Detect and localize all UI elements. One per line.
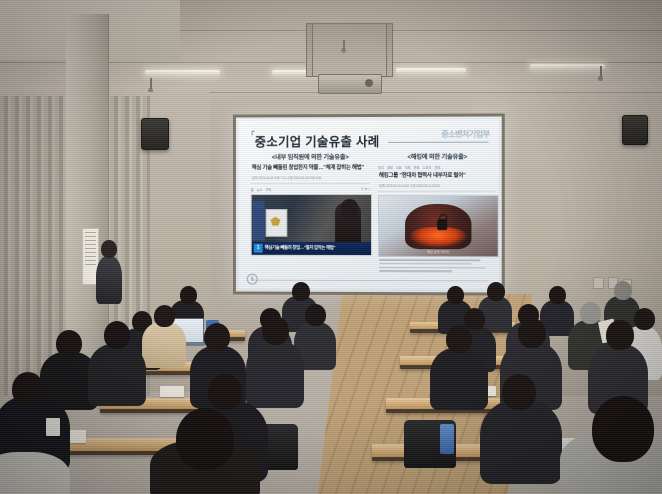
left-article-nav: 홈뉴스구독 ☰ ⚙ ⤓ <box>251 187 370 192</box>
projector-mount-arm <box>386 23 393 77</box>
presenter-body <box>96 256 122 304</box>
attendee-head <box>292 282 310 301</box>
attendee-head <box>56 330 82 357</box>
attendee-head-foreground <box>176 408 234 470</box>
left-news-thumbnail: 1 핵심기술 빼돌려 창업…"철저 입막는 해법" <box>251 194 372 256</box>
attendee-head <box>12 372 44 406</box>
attendee-head <box>305 304 326 326</box>
attendee-head <box>446 325 472 353</box>
attendee-head <box>634 308 655 330</box>
sprinkler-pipe <box>600 66 602 77</box>
reporter-hair <box>341 199 358 219</box>
wall-speaker <box>141 118 169 150</box>
padlock-icon <box>437 219 447 230</box>
divider <box>251 183 370 184</box>
left-subtitle: <내부 임직원에 의한 기술유출> <box>251 152 370 161</box>
attendee-head <box>518 318 546 348</box>
wall-speaker <box>622 115 648 145</box>
attendee-head <box>614 281 632 300</box>
attendee-head <box>464 308 485 330</box>
background-door <box>253 201 265 241</box>
attendee-head <box>262 316 289 345</box>
slide-number: 6 <box>247 274 258 285</box>
slide-title: 중소기업 기술유출 사례 <box>255 131 380 150</box>
attendee-head <box>204 323 230 351</box>
projector-lens <box>365 79 373 87</box>
attendee-head <box>580 302 601 324</box>
sprinkler-pipe <box>343 40 345 50</box>
document-sheet[interactable] <box>160 386 184 397</box>
attendee-head <box>487 282 505 301</box>
left-article-headline: 핵심 기술 빼돌린 창업한지 약물…"체계 잡히는 해법" <box>252 165 369 172</box>
right-article-nav: 정치경제사회국제문화스포츠연재 <box>378 165 497 170</box>
attendee-head <box>180 286 197 304</box>
presentation-slide: ┌ 중소기업 기술유출 사례 중소벤처기업부 <내부 임직원에 의한 기술유출>… <box>239 119 499 289</box>
organization-logo: 중소벤처기업부 <box>441 129 489 140</box>
light-switch-panel[interactable] <box>593 277 604 289</box>
right-subtitle: <해킹에 의한 기술유출> <box>378 152 497 161</box>
attendee-body <box>430 348 488 410</box>
divider <box>378 191 497 192</box>
news-caption-bar: 1 핵심기술 빼돌려 창업…"철저 입막는 해법" <box>252 242 371 255</box>
attendee-head <box>447 286 464 304</box>
projector-mount-arm <box>306 23 313 77</box>
water-bottle <box>440 424 454 454</box>
attendee-head <box>154 305 175 327</box>
ceiling-light <box>396 68 466 73</box>
lecture-hall-photo: ┌ 중소기업 기술유출 사례 중소벤처기업부 <내부 임직원에 의한 기술유출>… <box>0 0 662 494</box>
right-article-headline: 해킹그룹 "현대차 협력사 내부자료 털어" <box>379 173 496 180</box>
title-divider <box>388 142 489 143</box>
projector-mount <box>306 23 393 77</box>
attendee-body-beige-coat <box>142 322 186 368</box>
article-body-text <box>378 259 497 272</box>
slide-left-column: <내부 임직원에 의한 기술유출> 핵심 기술 빼돌린 창업한지 약물…"체계 … <box>251 152 370 256</box>
slide-right-column: <해킹에 의한 기술유출> 정치경제사회국제문화스포츠연재 해킹그룹 "현대차 … <box>378 152 497 275</box>
attendee-body <box>480 400 562 484</box>
right-article-meta: 등록 2023.03.14 14:02 수정 2023.03.14 15:33 <box>379 183 496 188</box>
caption-number: 1 <box>254 244 263 253</box>
attendee-head <box>502 374 536 410</box>
attendee-head <box>104 321 130 349</box>
attendee-head-foreground <box>592 396 654 462</box>
sprinkler-pipe <box>150 78 152 89</box>
ceiling-light <box>530 64 605 69</box>
left-article-meta: 입력 2023.05.18 오후 7:21 수정 2023.05.18 오후 8… <box>252 175 369 180</box>
right-hacking-thumbnail: 해킹 공격 이미지 <box>378 195 499 257</box>
projection-screen: ┌ 중소기업 기술유출 사례 중소벤처기업부 <내부 임직원에 의한 기술유출>… <box>233 113 505 295</box>
ceiling-light <box>145 70 220 75</box>
hacking-glow <box>410 227 467 248</box>
attendee-body-foreground <box>0 452 70 494</box>
slide-footer-rule <box>251 280 489 282</box>
thumbnail-caption: 해킹 공격 이미지 <box>379 249 498 254</box>
attendee-head <box>208 374 242 410</box>
attendee-head <box>606 320 634 350</box>
attendee-body <box>88 344 146 406</box>
caption-text: 핵심기술 빼돌려 창업…"철저 입막는 해법" <box>265 245 336 251</box>
attendee-body <box>246 340 304 408</box>
attendee-head <box>549 286 566 304</box>
presenter-head <box>101 240 117 258</box>
smartphone[interactable] <box>46 418 60 436</box>
